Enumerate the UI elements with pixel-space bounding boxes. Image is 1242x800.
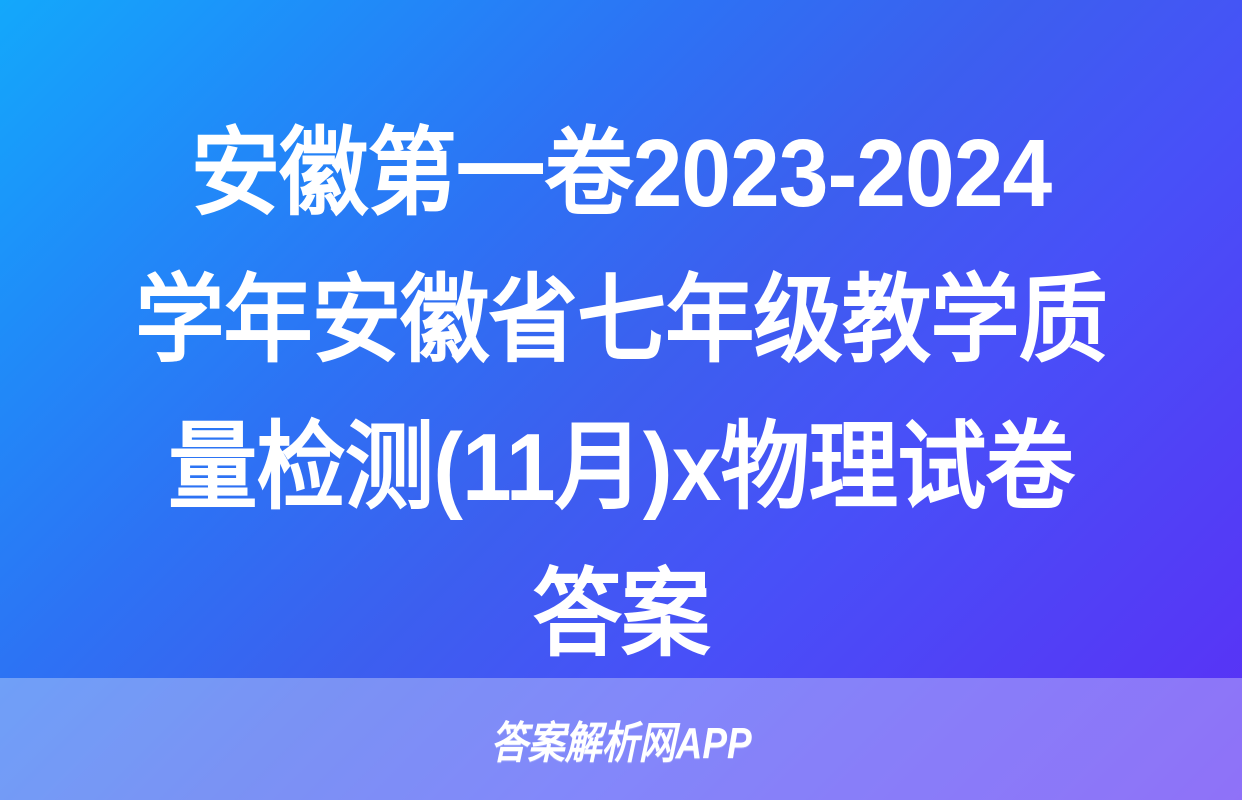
watermark-bar: 答案解析网APP [0, 678, 1242, 800]
title-line-4: 答案 [81, 541, 1162, 688]
title-line-3: 量检测(11月)x物理试卷 [81, 394, 1162, 541]
watermark-label: 答案解析网APP [491, 707, 752, 771]
page-title: 安徽第一卷2023-2024 学年安徽省七年级教学质 量检测(11月)x物理试卷… [0, 100, 1242, 688]
poster-canvas: 安徽第一卷2023-2024 学年安徽省七年级教学质 量检测(11月)x物理试卷… [0, 0, 1242, 800]
title-line-1: 安徽第一卷2023-2024 [81, 100, 1162, 247]
title-line-2: 学年安徽省七年级教学质 [81, 247, 1162, 394]
